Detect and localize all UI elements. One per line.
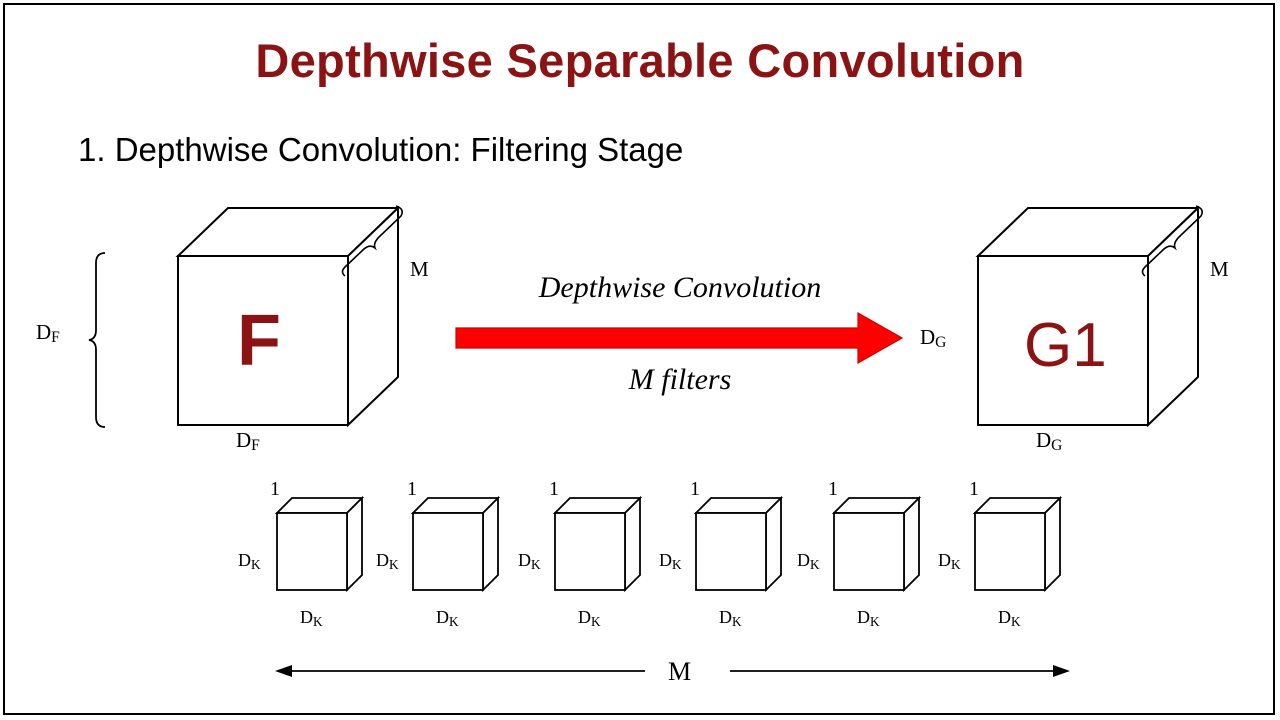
filter-width-label: DK <box>998 607 1021 628</box>
output-cube-face-label: G1 <box>1024 310 1107 381</box>
slide-canvas: Depthwise Separable Convolution 1. Depth… <box>0 0 1280 720</box>
output-width-label-text: D <box>1036 428 1051 452</box>
filter-depth-label: 1 <box>690 478 700 501</box>
input-height-label-text: D <box>36 320 51 344</box>
filter-width-label-text: D <box>578 607 591 627</box>
filter-width-label-sub: K <box>1011 614 1021 629</box>
filter-height-label: DK <box>797 550 820 571</box>
filter-height-label: DK <box>518 550 541 571</box>
input-width-label-sub: F <box>251 437 260 454</box>
filter-height-label-text: D <box>938 550 951 570</box>
filter-height-label: DK <box>238 550 261 571</box>
filter-depth-label: 1 <box>270 478 280 501</box>
filter-height-label-text: D <box>376 550 389 570</box>
filter-width-label-sub: K <box>313 614 323 629</box>
filter-width-label: DK <box>300 607 323 628</box>
output-height-label-sub: G <box>935 334 946 351</box>
filter-width-label-sub: K <box>732 614 742 629</box>
filter-height-label-text: D <box>797 550 810 570</box>
filter-height-label-sub: K <box>389 557 399 572</box>
filter-cube <box>834 498 919 590</box>
filter-height-label-sub: K <box>810 557 820 572</box>
output-height-label-text: D <box>920 325 935 349</box>
filter-depth-label: 1 <box>549 478 559 501</box>
filter-height-label-text: D <box>238 550 251 570</box>
filter-height-label-sub: K <box>531 557 541 572</box>
filter-width-label-sub: K <box>591 614 601 629</box>
input-height-label: DF <box>36 320 60 345</box>
output-height-label: DG <box>920 325 946 350</box>
filter-cube <box>277 498 362 590</box>
transform-label-bottom: M filters <box>440 363 920 397</box>
filter-cube <box>555 498 640 590</box>
filter-count-label: M <box>668 657 691 687</box>
filter-width-label: DK <box>578 607 601 628</box>
input-width-label-text: D <box>236 428 251 452</box>
output-width-label: DG <box>1036 428 1062 453</box>
filter-height-label-sub: K <box>672 557 682 572</box>
filter-height-label: DK <box>938 550 961 571</box>
filter-width-label-text: D <box>436 607 449 627</box>
filter-width-label-sub: K <box>449 614 459 629</box>
filter-cube <box>975 498 1060 590</box>
filter-cubes-group <box>277 498 1060 590</box>
filter-height-label-text: D <box>518 550 531 570</box>
input-cube-face-label: F <box>237 300 281 382</box>
filter-width-label: DK <box>436 607 459 628</box>
filter-cube <box>413 498 498 590</box>
input-depth-label: M <box>410 257 429 282</box>
transform-arrow <box>456 313 902 363</box>
output-depth-label: M <box>1210 257 1229 282</box>
filter-width-label-text: D <box>719 607 732 627</box>
filter-depth-label: 1 <box>828 478 838 501</box>
filter-width-label: DK <box>857 607 880 628</box>
input-height-label-sub: F <box>51 329 60 346</box>
filter-width-label: DK <box>719 607 742 628</box>
filter-cube <box>696 498 781 590</box>
transform-label-top: Depthwise Convolution <box>440 271 920 305</box>
filter-width-label-text: D <box>857 607 870 627</box>
filter-width-label-text: D <box>300 607 313 627</box>
filter-height-label-sub: K <box>951 557 961 572</box>
filter-height-label: DK <box>376 550 399 571</box>
input-cube-shape <box>178 208 398 425</box>
filter-height-label-text: D <box>659 550 672 570</box>
filter-depth-label: 1 <box>407 478 417 501</box>
output-width-label-sub: G <box>1051 437 1062 454</box>
filter-height-label-sub: K <box>251 557 261 572</box>
filter-width-label-sub: K <box>870 614 880 629</box>
filter-width-label-text: D <box>998 607 1011 627</box>
input-height-brace <box>89 253 105 427</box>
filter-depth-label: 1 <box>969 478 979 501</box>
input-width-label: DF <box>236 428 260 453</box>
filter-height-label: DK <box>659 550 682 571</box>
